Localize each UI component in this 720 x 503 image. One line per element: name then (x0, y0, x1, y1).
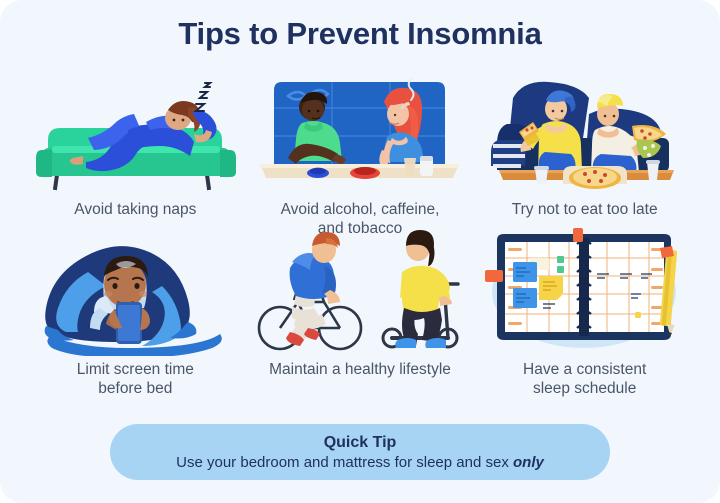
page-title: Tips to Prevent Insomnia (0, 16, 720, 52)
infographic-card: Tips to Prevent Insomnia (0, 0, 720, 503)
illustration-cyclist-and-scooter (252, 228, 467, 356)
spiral-binding (577, 238, 591, 336)
tip-caption: Maintain a healthy lifestyle (269, 360, 451, 379)
tip-caption: Try not to eat too late (512, 200, 658, 219)
quick-tip-banner: Quick Tip Use your bedroom and mattress … (110, 424, 610, 480)
tip-avoid-naps: Avoid taking naps (26, 78, 245, 228)
illustration-person-under-blanket (28, 228, 243, 356)
tip-sleep-schedule: Have a consistent sleep schedule (475, 228, 694, 391)
tip-caption-line1: Have a consistent (523, 360, 646, 379)
tip-limit-screen-time: Limit screen time before bed (26, 228, 245, 391)
tips-grid: Avoid taking naps (26, 78, 694, 391)
tip-caption-line2: sleep schedule (523, 379, 646, 398)
tip-caption-line1: Avoid alcohol, caffeine, (281, 200, 440, 219)
tip-avoid-substances: Avoid alcohol, caffeine, and tobacco (251, 78, 470, 228)
tip-caption: Limit screen time before bed (77, 360, 194, 398)
quick-tip-title: Quick Tip (324, 433, 397, 452)
tip-healthy-lifestyle: Maintain a healthy lifestyle (251, 228, 470, 391)
illustration-two-people-at-bar (252, 78, 467, 194)
tip-caption-line2: before bed (77, 379, 194, 398)
quick-tip-text-main: Use your bedroom and mattress for sleep … (176, 454, 513, 471)
quick-tip-text: Use your bedroom and mattress for sleep … (176, 453, 544, 472)
illustration-eating-pizza-on-couch (477, 78, 692, 194)
ashtray (350, 167, 380, 179)
pizza-box (563, 166, 627, 189)
tip-no-late-eating: Try not to eat too late (475, 78, 694, 228)
striped-cushion (491, 140, 527, 166)
illustration-open-planner (477, 228, 692, 356)
zzz-icon (196, 83, 210, 111)
tip-caption: Have a consistent sleep schedule (523, 360, 646, 398)
illustration-person-sleeping-on-couch (28, 78, 243, 194)
sticky-note-yellow (539, 276, 563, 300)
sticky-note-blue-2 (513, 288, 537, 308)
tip-caption: Avoid taking naps (74, 200, 196, 219)
couch-legs (53, 174, 211, 190)
quick-tip-emphasis: only (513, 454, 544, 471)
sticky-note-blue-1 (513, 262, 537, 282)
tip-caption-line1: Limit screen time (77, 360, 194, 379)
